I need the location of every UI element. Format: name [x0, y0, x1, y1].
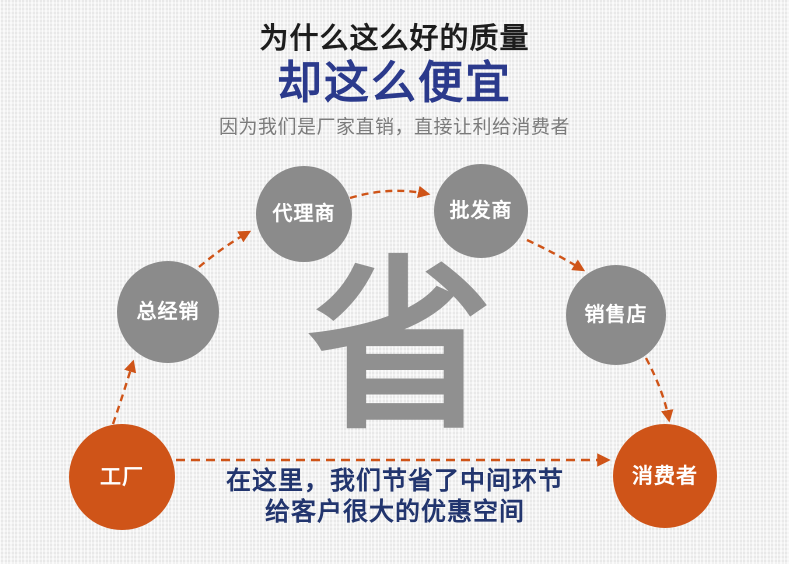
- edge-pifashang-xiaoshoudian: [527, 240, 583, 270]
- page-title-main: 却这么便宜: [0, 60, 789, 105]
- bottom-caption: 在这里，我们节省了中间环节 给客户很大的优惠空间: [180, 466, 610, 528]
- edge-dailishang-pifashang: [350, 191, 428, 198]
- edge-xiaoshoudian-xiaofeizhe: [646, 358, 669, 420]
- node-label-gongchang: 工厂: [100, 467, 144, 488]
- page-subtitle: 因为我们是厂家直销，直接让利给消费者: [0, 118, 789, 137]
- node-zongjingxiao[interactable]: 总经销: [117, 261, 219, 363]
- node-gongchang[interactable]: 工厂: [69, 424, 175, 530]
- node-dailishang[interactable]: 代理商: [256, 166, 352, 262]
- edge-gongchang-zongjingxiao: [113, 362, 133, 424]
- page-title-top: 为什么这么好的质量: [0, 25, 789, 54]
- promo-poster: 为什么这么好的质量 却这么便宜 因为我们是厂家直销，直接让利给消费者 省 总经销…: [0, 0, 789, 564]
- watermark-character: 省: [305, 252, 495, 442]
- node-label-zongjingxiao: 总经销: [137, 302, 200, 322]
- edge-zongjingxiao-dailishang: [199, 232, 249, 267]
- node-label-xiaofeizhe: 消费者: [632, 466, 698, 487]
- node-label-xiaoshoudian: 销售店: [585, 305, 648, 325]
- node-xiaofeizhe[interactable]: 消费者: [613, 424, 717, 528]
- node-pifashang[interactable]: 批发商: [434, 164, 528, 258]
- node-xiaoshoudian[interactable]: 销售店: [566, 265, 666, 365]
- node-label-dailishang: 代理商: [273, 204, 336, 224]
- node-label-pifashang: 批发商: [450, 201, 513, 221]
- caption-line-2: 给客户很大的优惠空间: [180, 497, 610, 528]
- caption-line-1: 在这里，我们节省了中间环节: [180, 466, 610, 497]
